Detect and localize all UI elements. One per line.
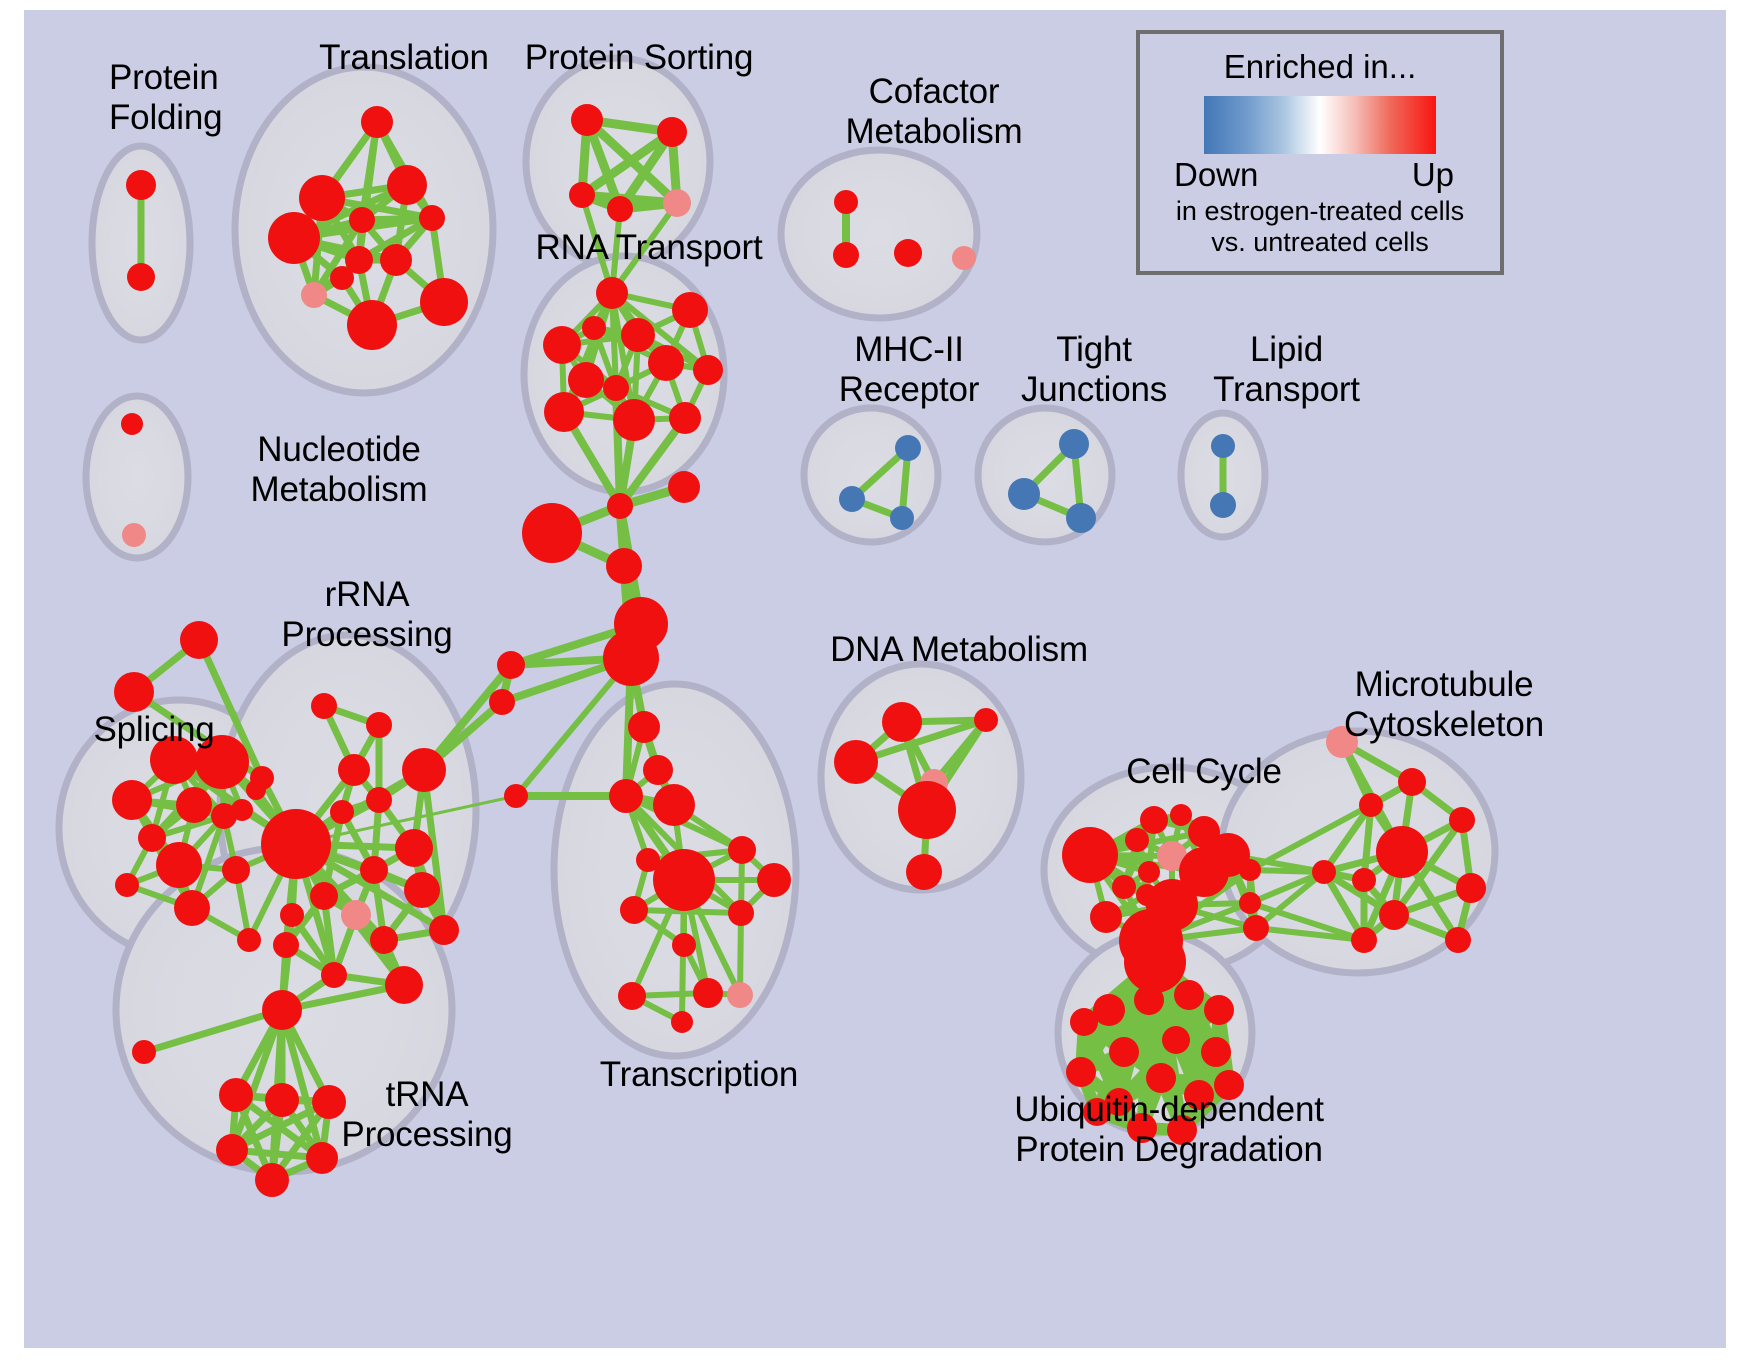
legend-low-label: Down <box>1174 156 1258 194</box>
legend-panel: Enriched in... Down Up in estrogen-treat… <box>1136 30 1504 275</box>
legend-caption-line-1: in estrogen-treated cells <box>1140 196 1500 227</box>
legend-caption-line-2: vs. untreated cells <box>1140 227 1500 258</box>
network-canvas: Protein FoldingTranslationProtein Sortin… <box>24 10 1726 1348</box>
legend-title: Enriched in... <box>1140 48 1500 86</box>
legend-endpoint-labels: Down Up <box>1170 154 1470 196</box>
hull-mhc <box>804 408 938 542</box>
figure-root: Protein FoldingTranslationProtein Sortin… <box>0 0 1750 1360</box>
legend-color-gradient-bar <box>1204 96 1436 154</box>
hull-cofactor <box>781 150 977 318</box>
legend-high-label: Up <box>1412 156 1454 194</box>
